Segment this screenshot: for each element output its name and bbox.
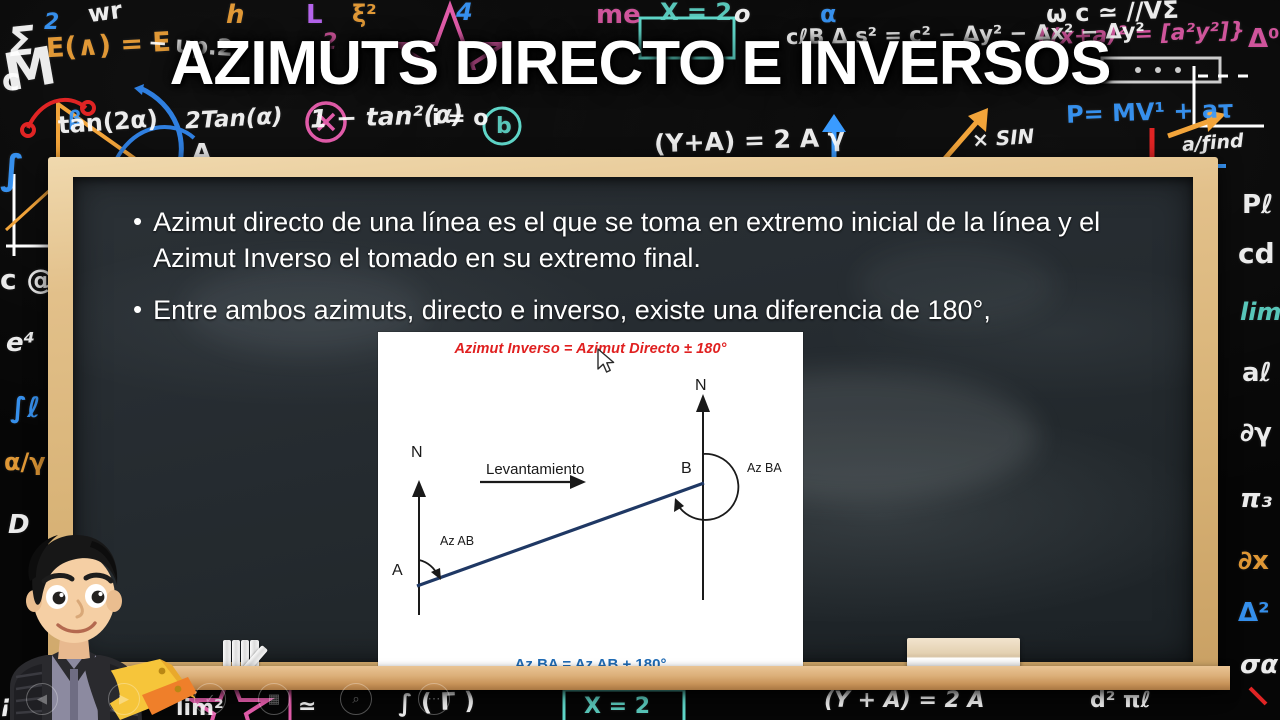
chalk-ledge: [40, 666, 1230, 690]
label-az-ba: Az BA: [747, 461, 782, 475]
chalk-stick: [232, 640, 240, 667]
blackboard-eraser: [907, 638, 1020, 667]
meridian-b: [696, 394, 710, 600]
label-levantamiento: Levantamiento: [486, 461, 584, 478]
avatar: [0, 519, 197, 720]
label-point-a: A: [392, 562, 403, 579]
bullet-text: Entre ambos azimuts, directo e inverso, …: [153, 292, 991, 328]
azimuth-diagram-panel: Azimut Inverso = Azimut Directo ± 180°: [378, 332, 803, 690]
page-title: AZIMUTS DIRECTO E INVERSOS: [0, 28, 1280, 99]
bullet-list: • Azimut directo de una línea es el que …: [133, 204, 1165, 344]
az-ab-arc: [419, 560, 441, 580]
bullet-marker: •: [133, 204, 142, 238]
meridian-a: [412, 480, 426, 615]
list-item: • Entre ambos azimuts, directo e inverso…: [133, 292, 1165, 328]
bullet-marker: •: [133, 292, 142, 326]
bullet-text: Azimut directo de una línea es el que se…: [153, 204, 1165, 276]
label-north-b: N: [695, 377, 707, 394]
label-point-b: B: [681, 460, 692, 477]
slide-stage: ΣcM2E(∧) = Ewrhβtan(2α)2Tan(α)A− up.21 −…: [0, 0, 1280, 720]
chalk-stick: [223, 640, 231, 667]
list-item: • Azimut directo de una línea es el que …: [133, 204, 1165, 276]
label-az-ab: Az AB: [440, 534, 474, 548]
diagram-drawing: N N A B Az AB Az BA Levantamiento: [378, 332, 803, 690]
label-north-a: N: [411, 444, 423, 461]
